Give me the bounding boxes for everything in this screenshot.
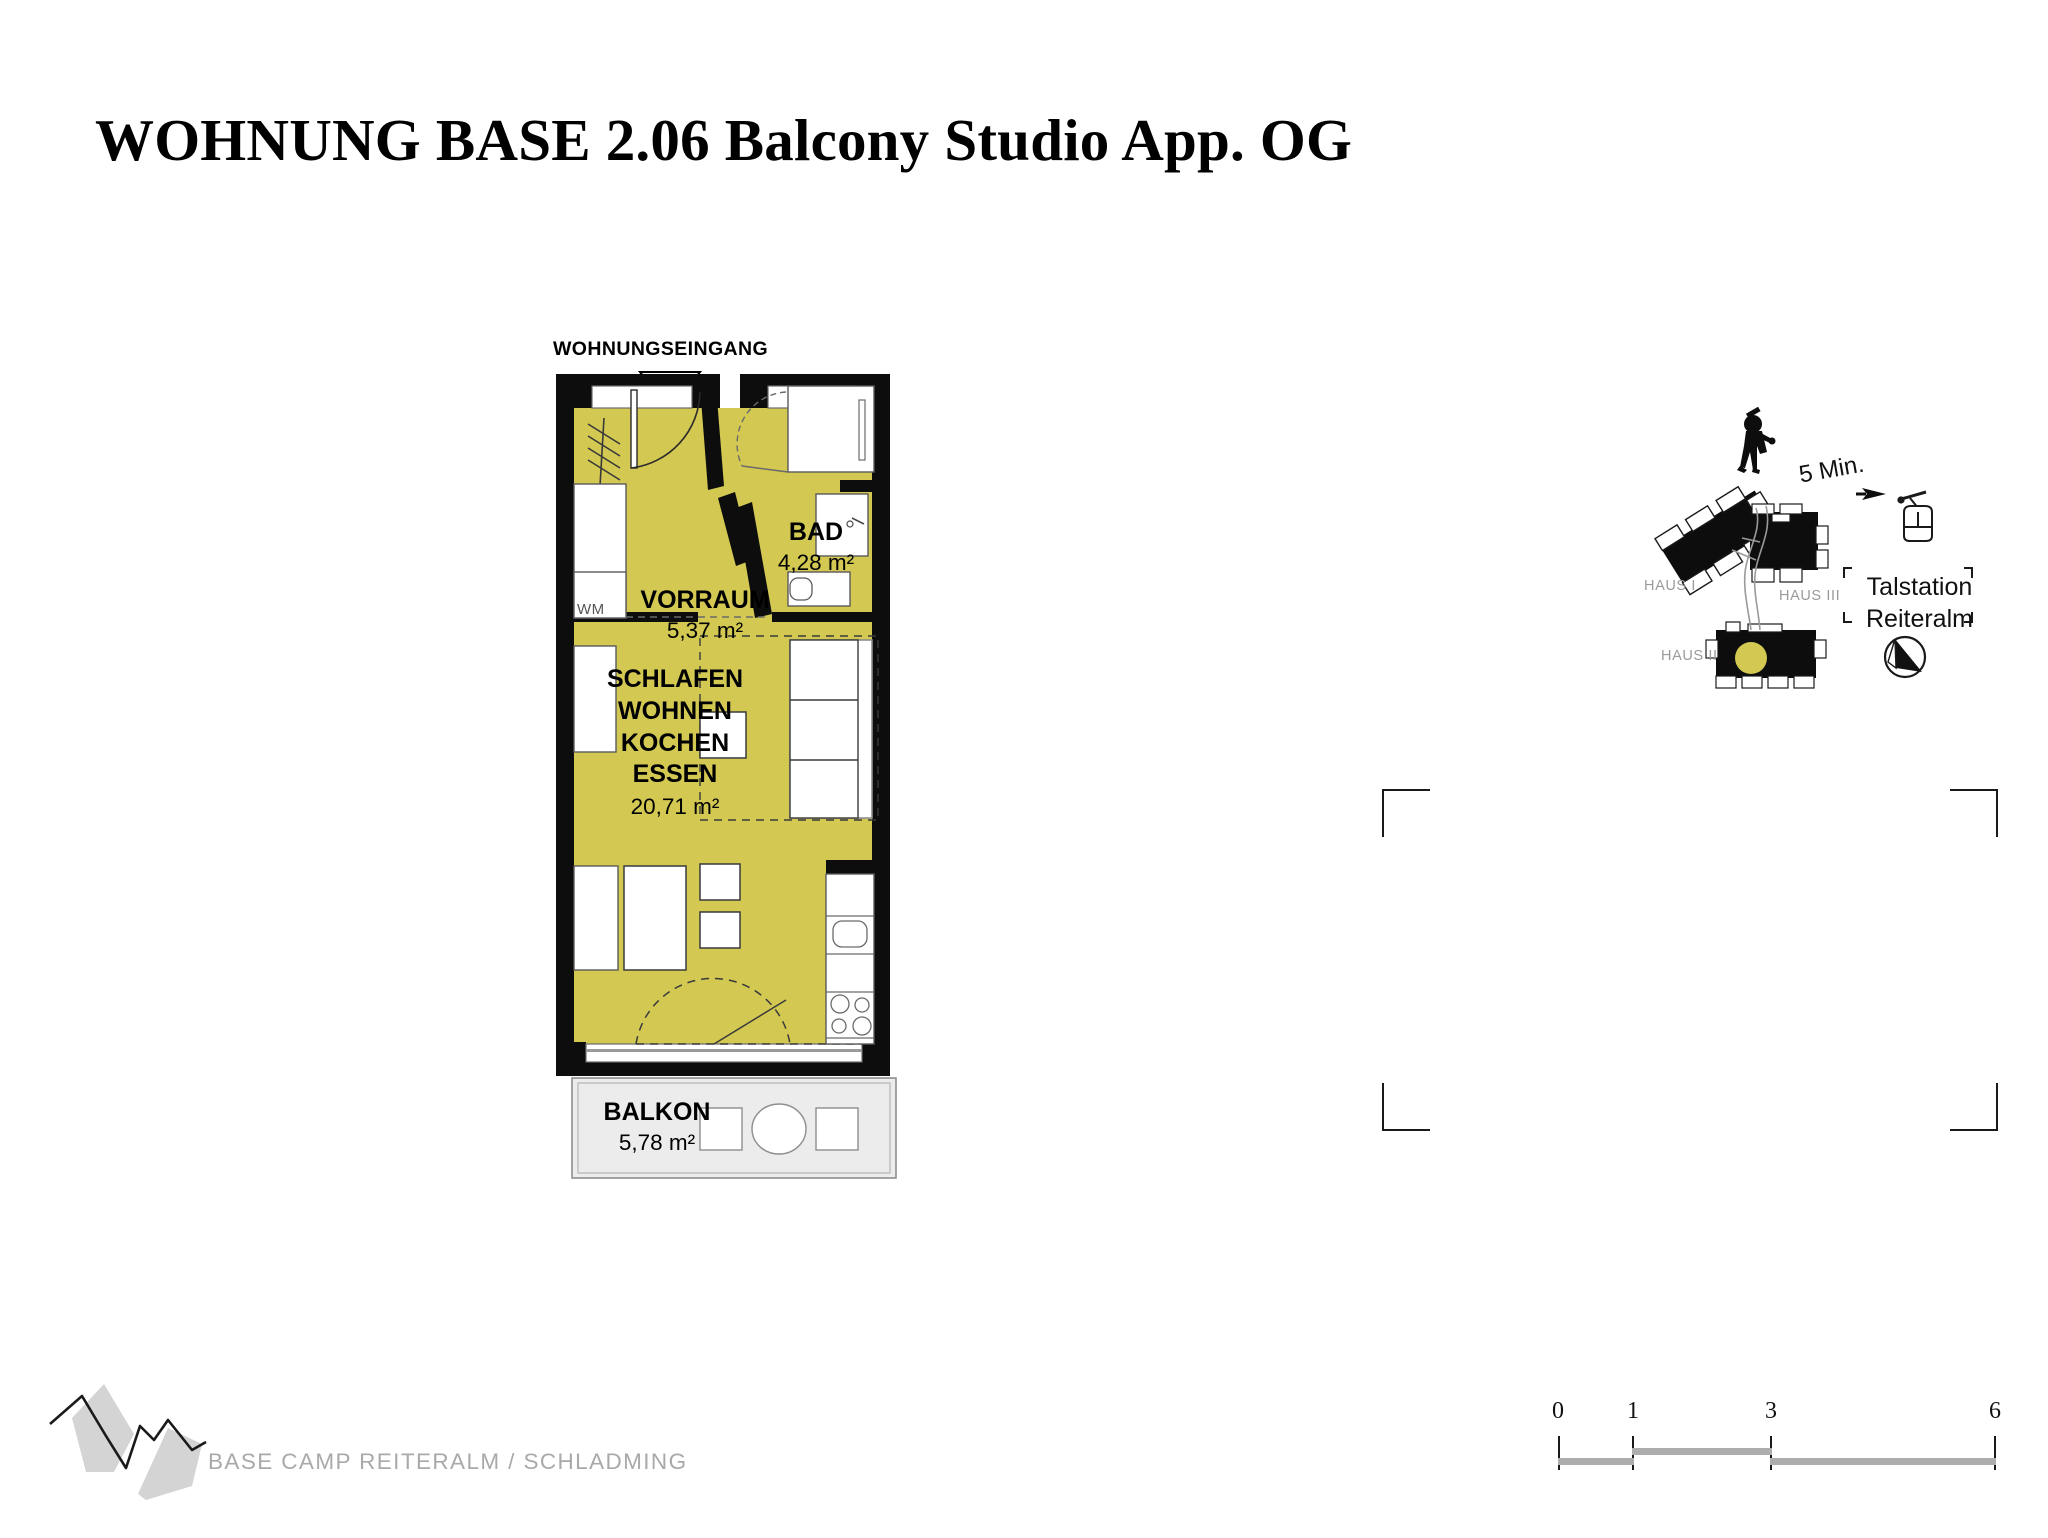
scale-tick-1: 1 bbox=[1627, 1398, 1639, 1425]
room-area-main: 20,71 m² bbox=[600, 793, 750, 822]
building-haus-2 bbox=[1706, 622, 1826, 688]
unit-location-marker bbox=[1735, 642, 1767, 674]
brand-name: BASE CAMP REITERALM / SCHLADMING bbox=[208, 1449, 687, 1475]
room-area-balkon: 5,78 m² bbox=[592, 1130, 722, 1156]
building-label-haus-3: HAUS III bbox=[1779, 588, 1840, 604]
kitchen-counter bbox=[826, 874, 874, 1044]
skier-icon bbox=[1737, 407, 1776, 474]
washing-machine-label: WM bbox=[577, 601, 605, 618]
image-placeholder-frame bbox=[1382, 789, 1998, 1131]
room-label-balkon: BALKON 5,78 m² bbox=[592, 1098, 722, 1156]
side-table-upper bbox=[700, 864, 740, 900]
balcony-table bbox=[752, 1104, 806, 1154]
nightstand-left bbox=[574, 866, 618, 970]
bed bbox=[624, 866, 686, 970]
room-label-main: SCHLAFEN WOHNEN KOCHEN ESSEN 20,71 m² bbox=[600, 664, 750, 822]
room-label-bad: BAD 4,28 m² bbox=[756, 518, 876, 576]
sofa bbox=[790, 640, 872, 818]
talstation-label: Talstation Reiteralm bbox=[1866, 572, 1973, 636]
room-name-vorraum: VORRAUM bbox=[640, 586, 769, 614]
building-label-haus-2: HAUS II bbox=[1661, 648, 1718, 664]
scale-tick-3: 3 bbox=[1765, 1398, 1777, 1425]
gondola-icon bbox=[1898, 492, 1932, 541]
room-name-schlafen: SCHLAFEN bbox=[607, 665, 743, 693]
room-name-bad: BAD bbox=[789, 518, 843, 546]
room-label-vorraum: VORRAUM 5,37 m² bbox=[625, 586, 785, 644]
floor-plan-sheet: WOHNUNG BASE 2.06 Balcony Studio App. OG… bbox=[0, 0, 2048, 1538]
room-name-essen: ESSEN bbox=[633, 760, 718, 788]
balcony-chair-right bbox=[816, 1108, 858, 1150]
kitchen-sink bbox=[833, 921, 867, 947]
room-area-bad: 4,28 m² bbox=[756, 550, 876, 576]
room-area-vorraum: 5,37 m² bbox=[625, 618, 785, 644]
room-name-kochen: KOCHEN bbox=[621, 729, 729, 757]
talstation-line-1: Talstation bbox=[1867, 573, 1973, 601]
side-table-lower bbox=[700, 912, 740, 948]
direction-arrow-icon bbox=[1856, 488, 1886, 500]
scale-bar: 0 1 3 6 bbox=[1556, 1398, 2016, 1488]
compass-icon bbox=[1885, 637, 1925, 677]
room-name-wohnen: WOHNEN bbox=[618, 697, 732, 725]
scale-tick-0: 0 bbox=[1552, 1398, 1564, 1425]
talstation-line-2: Reiteralm bbox=[1866, 605, 1973, 633]
building-label-haus-1: HAUS I bbox=[1644, 578, 1696, 594]
floor-plan-drawing bbox=[0, 0, 2048, 1538]
room-name-balkon: BALKON bbox=[604, 1098, 711, 1126]
building-haus-3 bbox=[1750, 504, 1828, 582]
brand-logo-icon bbox=[42, 1376, 662, 1506]
scale-tick-6: 6 bbox=[1989, 1398, 2001, 1425]
